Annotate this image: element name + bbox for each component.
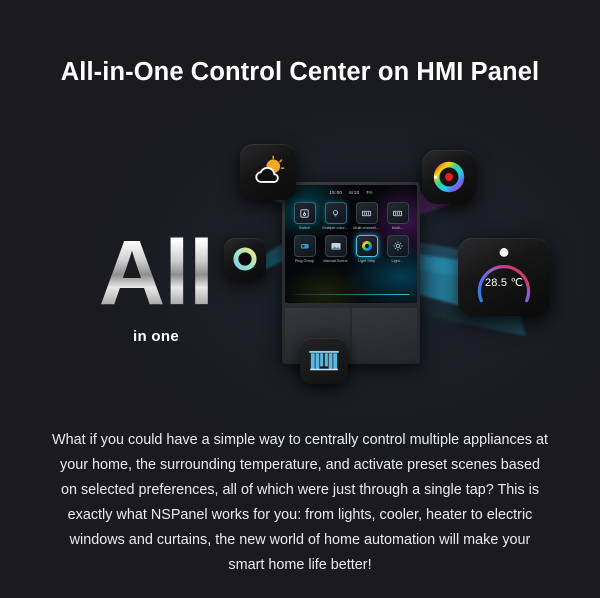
all-in-one-lockup: All in one	[86, 228, 226, 345]
lockup-big-text: All	[86, 228, 226, 318]
status-time: 15:00	[329, 190, 342, 195]
multichannel-icon[interactable]	[356, 202, 378, 224]
curtain-icon[interactable]	[300, 338, 348, 384]
app-label: Light Strip	[358, 259, 375, 263]
lockup-small-text: in one	[86, 328, 226, 345]
app-label: Multi-channel…	[353, 226, 379, 230]
physical-button-right[interactable]	[352, 308, 417, 360]
switch-icon[interactable]	[294, 202, 316, 224]
app-item-light-strip[interactable]: Light Strip	[352, 235, 381, 263]
ring-icon[interactable]	[224, 238, 266, 280]
scene-image-icon[interactable]	[325, 235, 347, 257]
status-bar: 15:00 6/10 Fri	[285, 190, 417, 195]
temperature-dial[interactable]: 28.5 ℃	[458, 238, 550, 316]
app-item-multi-channel[interactable]: Multi-channel…	[352, 202, 381, 230]
app-label: Light…	[391, 259, 403, 263]
rgb-wheel-icon[interactable]	[422, 150, 476, 204]
bulb-icon[interactable]	[325, 202, 347, 224]
app-label: Switch	[299, 226, 310, 230]
app-item-switch[interactable]: Switch	[290, 202, 319, 230]
app-item-multiple-color[interactable]: Multiple color…	[321, 202, 350, 230]
panel-screen[interactable]: 15:00 6/10 Fri Switch	[285, 185, 417, 303]
screen-divider	[293, 294, 409, 295]
weather-icon[interactable]	[240, 144, 296, 200]
app-item-plug-group[interactable]: Plug Group	[290, 235, 319, 263]
app-item-light[interactable]: Light…	[383, 235, 412, 263]
device-stage: 15:00 6/10 Fri Switch	[210, 130, 590, 420]
temperature-value: 28.5 ℃	[485, 276, 523, 289]
app-item-manual-scene[interactable]: Manual Scene	[321, 235, 350, 263]
nspanel-device[interactable]: 15:00 6/10 Fri Switch	[282, 182, 420, 364]
light-icon[interactable]	[387, 235, 409, 257]
status-date: 6/10	[349, 190, 359, 195]
description-paragraph: What if you could have a simple way to c…	[52, 428, 548, 578]
app-label: Multiple color…	[322, 226, 348, 230]
promo-page: All-in-One Control Center on HMI Panel A…	[0, 0, 600, 598]
color-wheel-icon[interactable]	[356, 235, 378, 257]
app-item-multi[interactable]: Multi…	[383, 202, 412, 230]
app-label: Manual Scene	[323, 259, 347, 263]
app-grid: Switch Multiple color…	[290, 202, 412, 263]
app-label: Multi…	[392, 226, 404, 230]
multichannel-icon[interactable]	[387, 202, 409, 224]
app-label: Plug Group	[295, 259, 314, 263]
plug-group-icon[interactable]	[294, 235, 316, 257]
page-title: All-in-One Control Center on HMI Panel	[0, 58, 600, 87]
status-weekday: Fri	[366, 190, 372, 195]
